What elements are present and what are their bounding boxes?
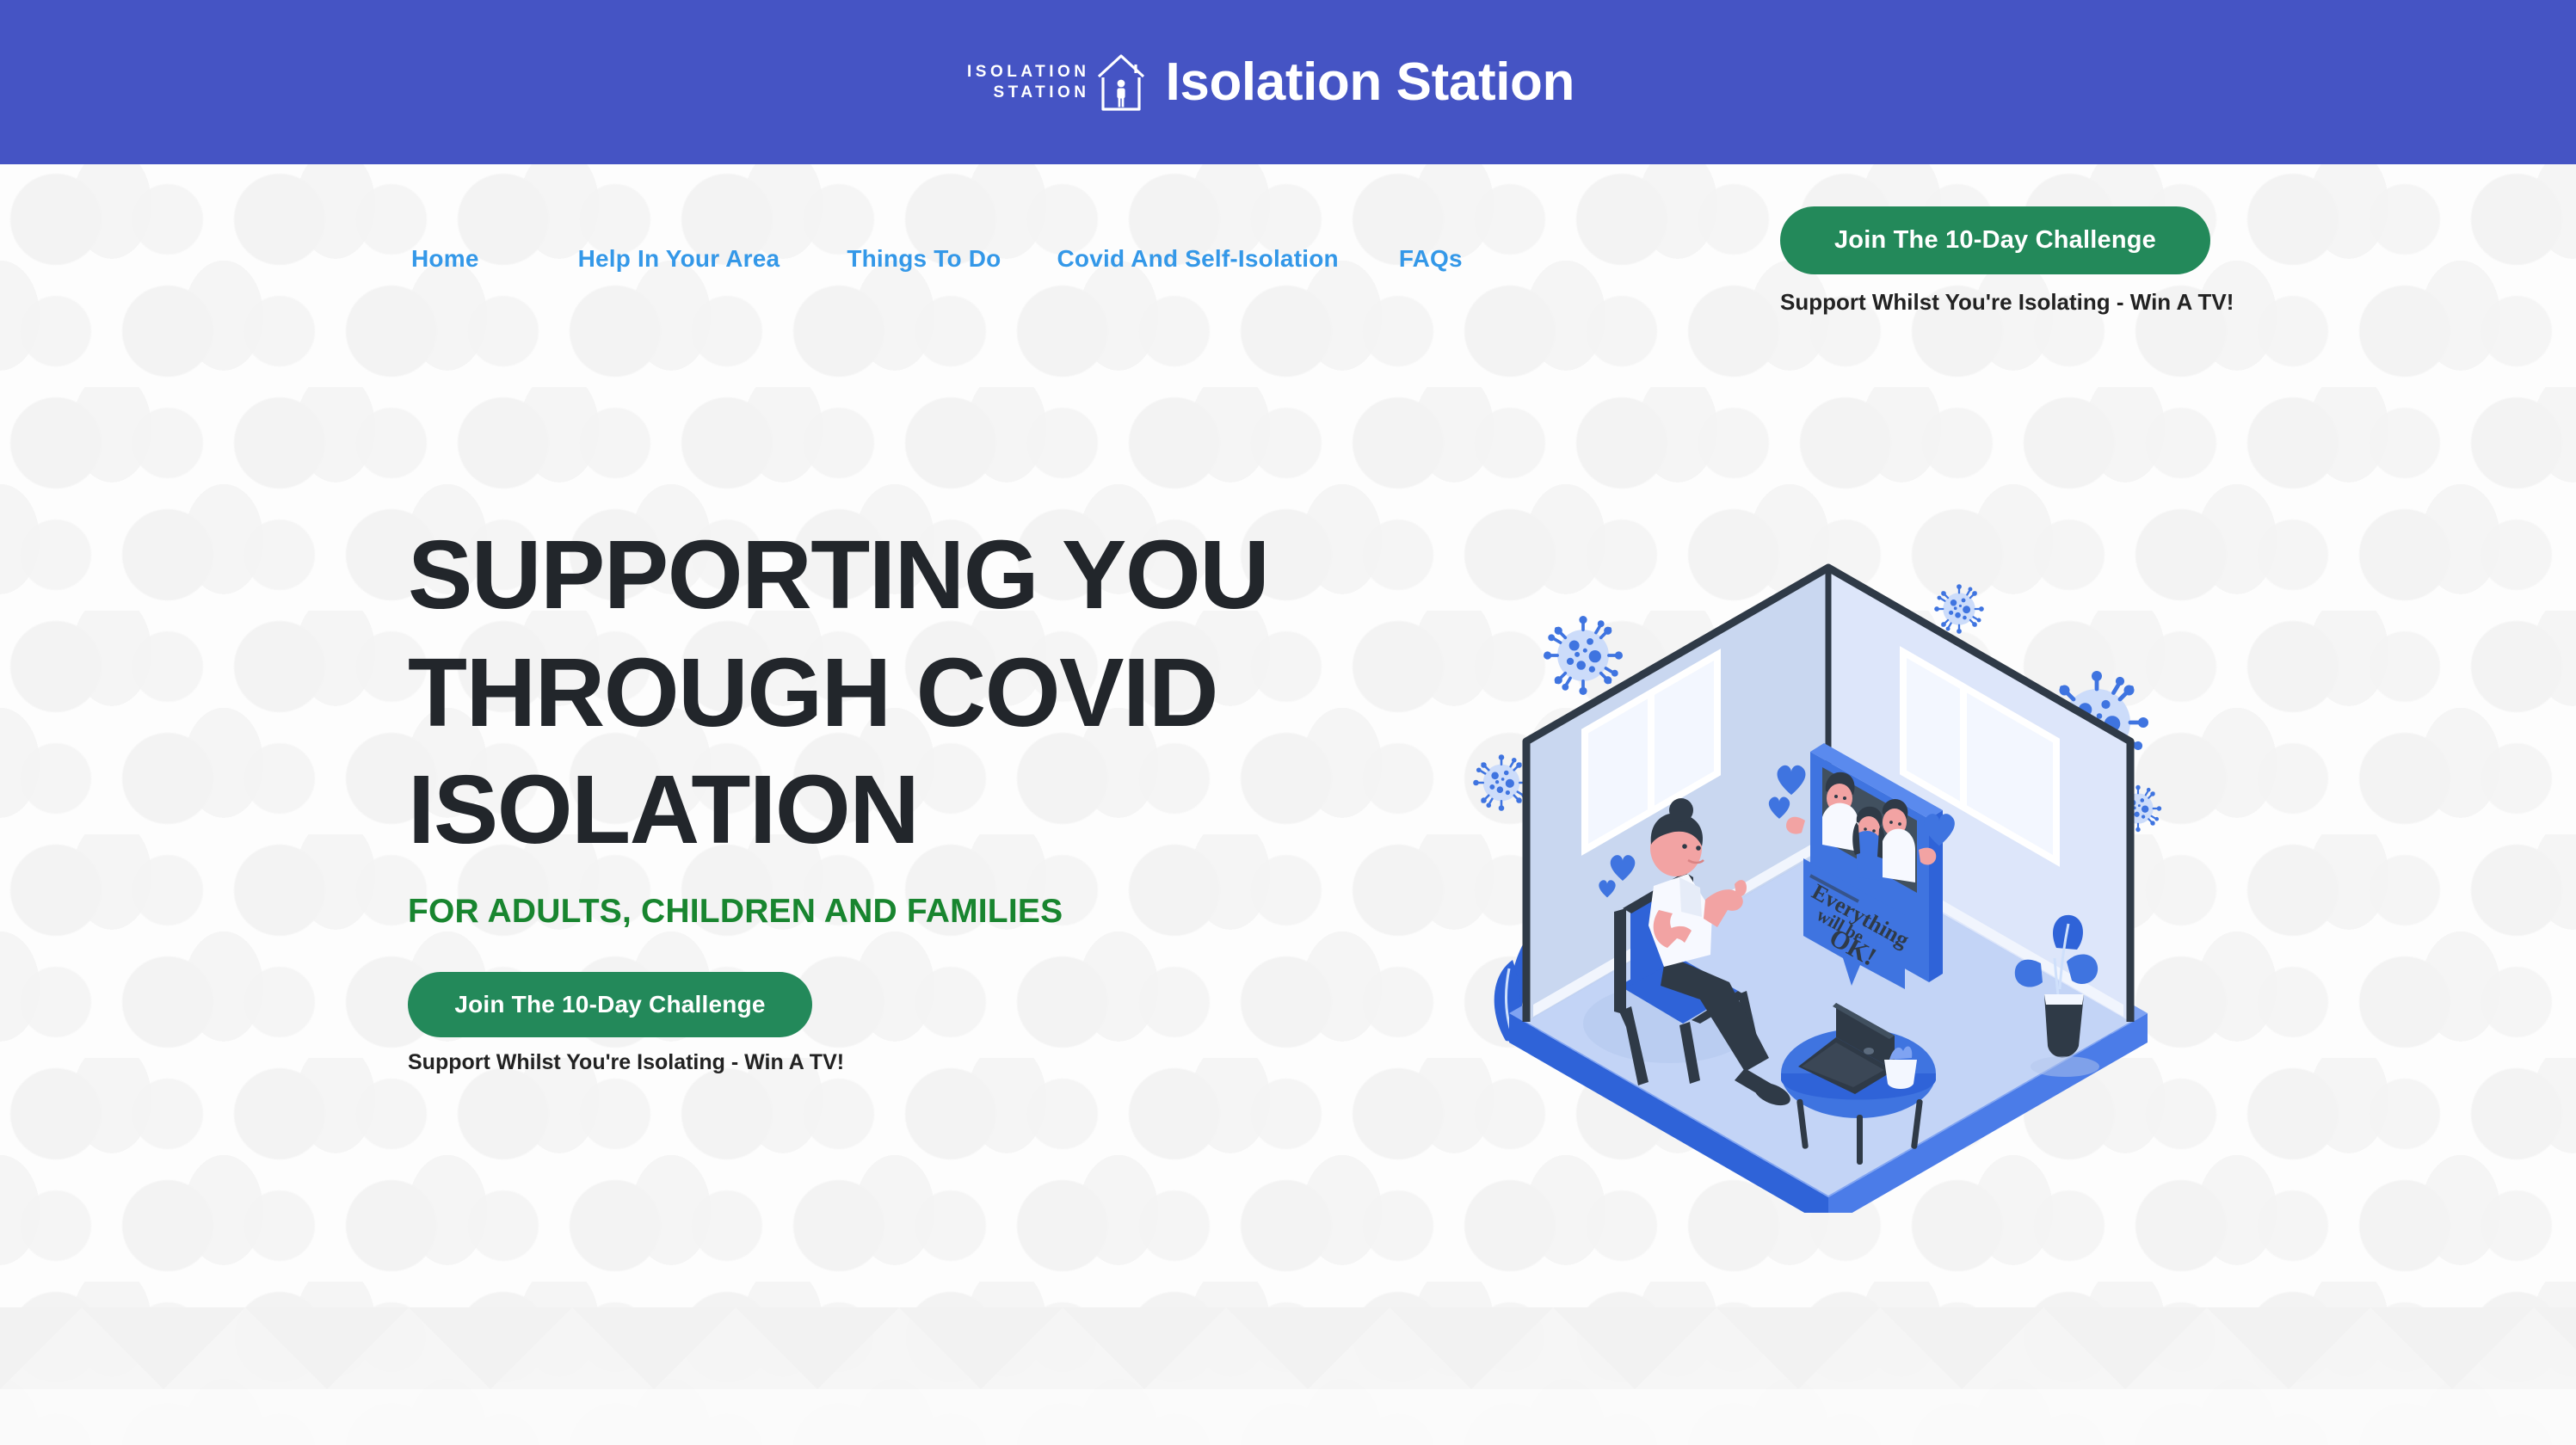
hero-heading-line1: SUPPORTING YOU (408, 516, 1423, 634)
hero-heading: SUPPORTING YOU THROUGH COVID ISOLATION (408, 516, 1423, 869)
site-header: ISOLATION STATION Isolation Station (0, 0, 2576, 164)
header-cta-subtext: Support Whilst You're Isolating - Win A … (1780, 289, 2210, 316)
background-geometric-band (0, 1307, 2576, 1445)
main-navigation: Home Help In Your Area Things To Do Covi… (411, 245, 1463, 273)
join-challenge-button-hero[interactable]: Join The 10-Day Challenge (408, 972, 812, 1037)
isolation-room-illustration: Everything will be OK! (1454, 507, 2203, 1213)
header-cta-group: Join The 10-Day Challenge Support Whilst… (1780, 206, 2210, 316)
hero-text-block: SUPPORTING YOU THROUGH COVID ISOLATION F… (408, 516, 1423, 1075)
hero-heading-line3: ISOLATION (408, 751, 1423, 869)
logo-wordmark-line2: STATION (993, 83, 1089, 102)
nav-item-covid-and-self-isolation[interactable]: Covid And Self-Isolation (1057, 245, 1339, 273)
nav-item-help-in-your-area[interactable]: Help In Your Area (578, 245, 780, 273)
hero-illustration: Everything will be OK! (1454, 507, 2203, 1213)
hero-cta-group: Join The 10-Day Challenge Support Whilst… (408, 972, 812, 1075)
logo-wordmark: ISOLATION STATION (967, 62, 1090, 101)
virus-particle (1934, 584, 1984, 634)
nav-item-faqs[interactable]: FAQs (1399, 245, 1463, 273)
page-root: ISOLATION STATION Isolation Station Home… (0, 0, 2576, 1445)
brand-lockup[interactable]: ISOLATION STATION Isolation Station (967, 51, 1575, 114)
house-with-person-icon (1095, 51, 1147, 114)
hero-heading-line2: THROUGH COVID (408, 634, 1423, 752)
site-title: Isolation Station (1166, 56, 1575, 109)
hero-subheading: FOR ADULTS, CHILDREN AND FAMILIES (408, 893, 1423, 931)
hero-cta-subtext: Support Whilst You're Isolating - Win A … (408, 1050, 812, 1075)
join-challenge-button-top[interactable]: Join The 10-Day Challenge (1780, 206, 2210, 274)
logo-wordmark-line1: ISOLATION (967, 62, 1090, 82)
virus-particle (1473, 754, 1530, 811)
logo-mark: ISOLATION STATION (967, 51, 1147, 114)
nav-item-home[interactable]: Home (411, 245, 479, 273)
virus-particle (1544, 616, 1623, 695)
nav-item-things-to-do[interactable]: Things To Do (847, 245, 1001, 273)
